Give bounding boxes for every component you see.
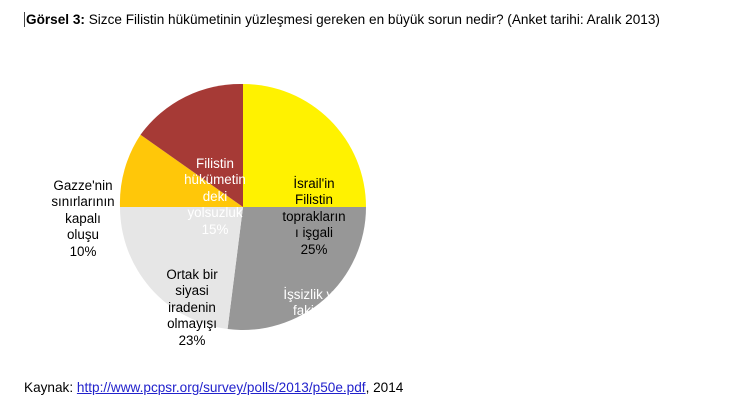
caption-text: Sizce Filistin hükümetinin yüzleşmesi ge… (85, 12, 660, 27)
source-suffix: , 2014 (366, 380, 404, 395)
pie-slice-israil-isgali[interactable] (243, 84, 366, 207)
pie-chart-figure: İsrail'in Filistin toprakların ı işgali … (0, 60, 740, 350)
pie-slice-ortak-siyasi-irade[interactable] (120, 207, 243, 329)
pie-chart[interactable] (118, 82, 368, 332)
figure-caption: Görsel 3: Sizce Filistin hükümetinin yüz… (24, 9, 714, 30)
pie-slice-issizlik-fakirlik[interactable] (228, 207, 366, 330)
caption-label: Görsel 3: (26, 12, 85, 27)
source-prefix: Kaynak: (24, 380, 73, 395)
source-line: Kaynak: http://www.pcpsr.org/survey/poll… (24, 378, 403, 398)
source-url-link[interactable]: http://www.pcpsr.org/survey/polls/2013/p… (77, 380, 366, 395)
text-cursor (24, 12, 25, 27)
